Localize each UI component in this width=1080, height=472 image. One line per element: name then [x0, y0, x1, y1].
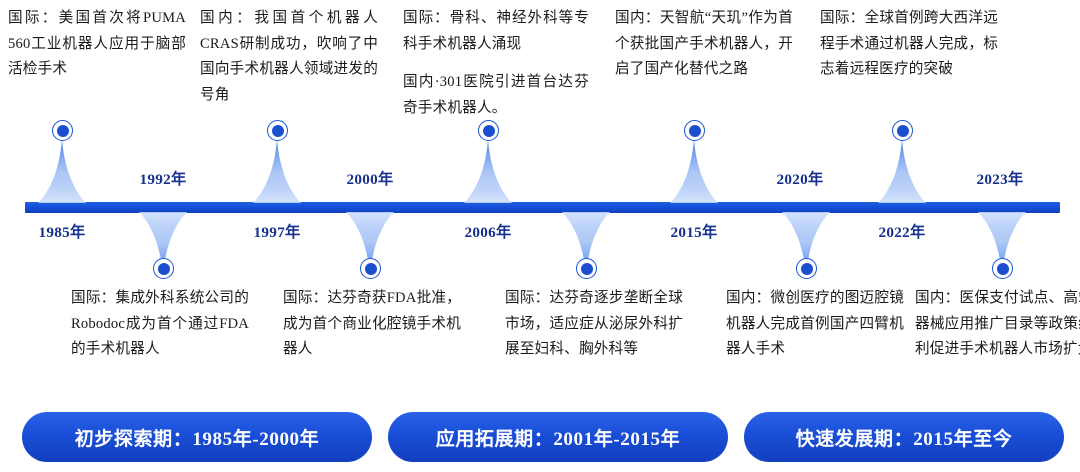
flare-up-2015	[670, 139, 718, 203]
year-label-2022: 2022年	[842, 220, 962, 242]
event-paragraph: 国内·301医院引进首台达芬奇手术机器人。	[403, 70, 589, 121]
phase-bar: 初步探索期：1985年-2000年 应用拓展期：2001年-2015年 快速发展…	[0, 412, 1080, 462]
timeline-marker-2015-below[interactable]	[576, 258, 597, 279]
timeline-marker-2006[interactable]	[478, 120, 499, 141]
year-label-2000: 2000年	[310, 167, 430, 189]
event-paragraph: 国际：美国首次将PUMA 560工业机器人应用于脑部活检手术	[8, 6, 186, 83]
timeline-marker-1997[interactable]	[267, 120, 288, 141]
phase-pill-exploration[interactable]: 初步探索期：1985年-2000年	[22, 412, 372, 462]
year-label-2006: 2006年	[428, 220, 548, 242]
event-text-above-0: 国际：美国首次将PUMA 560工业机器人应用于脑部活检手术	[8, 6, 186, 83]
event-text-below-1: 国际：达芬奇获FDA批准，成为首个商业化腔镜手术机器人	[283, 286, 461, 363]
year-label-1985: 1985年	[2, 220, 122, 242]
year-label-2020: 2020年	[740, 167, 860, 189]
timeline-marker-2022[interactable]	[892, 120, 913, 141]
event-text-above-3: 国内：天智航“天玑”作为首个获批国产手术机器人，开启了国产化替代之路	[615, 6, 793, 83]
timeline-marker-2023[interactable]	[992, 258, 1013, 279]
year-label-1997: 1997年	[217, 220, 337, 242]
flare-up-2022	[878, 139, 926, 203]
event-paragraph: 国际：达芬奇获FDA批准，成为首个商业化腔镜手术机器人	[283, 286, 461, 363]
event-text-below-4: 国内：医保支付试点、高端器械应用推广目录等政策红利促进手术机器人市场扩大	[915, 286, 1080, 363]
event-paragraph: 国际：集成外科系统公司的Robodoc成为首个通过FDA的手术机器人	[71, 286, 249, 363]
event-text-below-0: 国际：集成外科系统公司的Robodoc成为首个通过FDA的手术机器人	[71, 286, 249, 363]
event-text-below-3: 国内：微创医疗的图迈腔镜机器人完成首例国产四臂机器人手术	[726, 286, 904, 363]
year-label-1992: 1992年	[103, 167, 223, 189]
timeline-marker-1985[interactable]	[52, 120, 73, 141]
timeline-marker-2000[interactable]	[360, 258, 381, 279]
flare-up-1997	[253, 139, 301, 203]
event-text-above-4: 国际：全球首例跨大西洋远程手术通过机器人完成，标志着远程医疗的突破	[820, 6, 998, 83]
event-text-above-2: 国际：骨科、神经外科等专科手术机器人涌现 国内·301医院引进首台达芬奇手术机器…	[403, 6, 589, 121]
phase-pill-expansion[interactable]: 应用拓展期：2001年-2015年	[388, 412, 728, 462]
event-paragraph: 国际：骨科、神经外科等专科手术机器人涌现	[403, 6, 589, 57]
event-paragraph: 国内：我国首个机器人CRAS研制成功，吹响了中国向手术机器人领域进发的号角	[200, 6, 378, 108]
event-text-above-1: 国内：我国首个机器人CRAS研制成功，吹响了中国向手术机器人领域进发的号角	[200, 6, 378, 108]
timeline-marker-1992[interactable]	[153, 258, 174, 279]
event-paragraph: 国内：微创医疗的图迈腔镜机器人完成首例国产四臂机器人手术	[726, 286, 904, 363]
year-label-2023: 2023年	[940, 167, 1060, 189]
phase-pill-rapid-growth[interactable]: 快速发展期：2015年至今	[744, 412, 1064, 462]
event-paragraph: 国际：全球首例跨大西洋远程手术通过机器人完成，标志着远程医疗的突破	[820, 6, 998, 83]
event-text-below-2: 国际：达芬奇逐步垄断全球市场，适应症从泌尿外科扩展至妇科、胸外科等	[505, 286, 683, 363]
event-paragraph: 国内：天智航“天玑”作为首个获批国产手术机器人，开启了国产化替代之路	[615, 6, 793, 83]
flare-up-1985	[38, 139, 86, 203]
event-paragraph: 国际：达芬奇逐步垄断全球市场，适应症从泌尿外科扩展至妇科、胸外科等	[505, 286, 683, 363]
year-label-2015: 2015年	[634, 220, 754, 242]
flare-up-2006	[464, 139, 512, 203]
timeline-infographic: 国际：美国首次将PUMA 560工业机器人应用于脑部活检手术 国内：我国首个机器…	[0, 0, 1080, 472]
timeline-marker-2015-above[interactable]	[684, 120, 705, 141]
timeline-marker-2020[interactable]	[796, 258, 817, 279]
event-paragraph: 国内：医保支付试点、高端器械应用推广目录等政策红利促进手术机器人市场扩大	[915, 286, 1080, 363]
